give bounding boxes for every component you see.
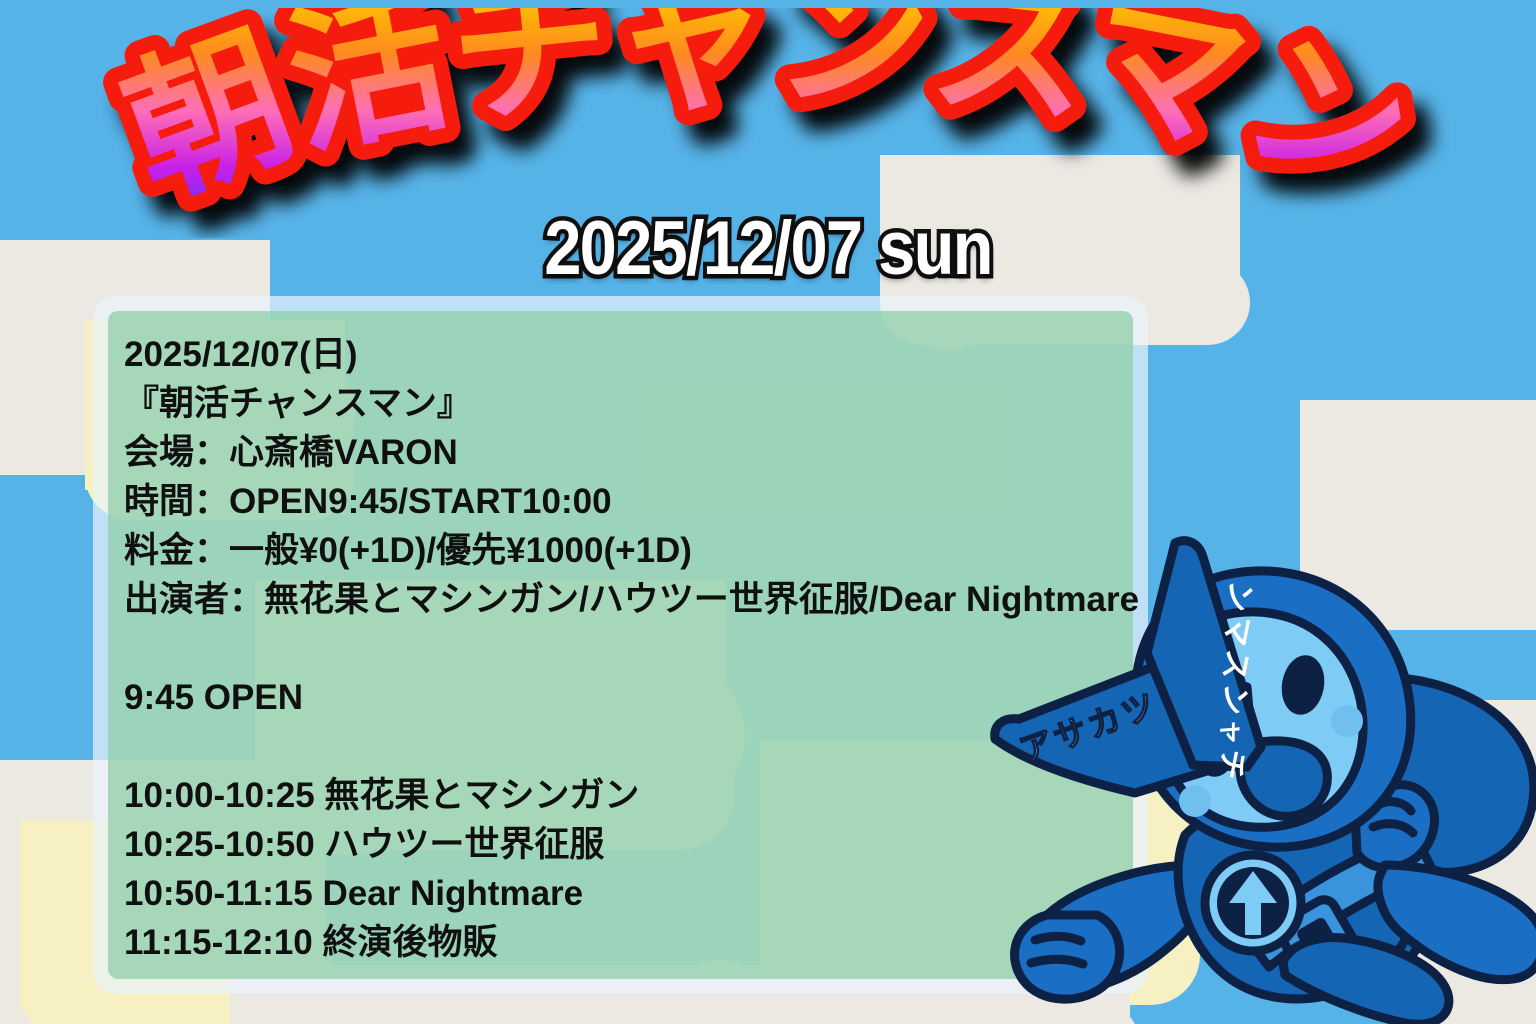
title-glyphs: 朝活チャンスマン 朝活チャンスマン [103,8,1433,230]
poster-canvas: 朝活チャンスマン 朝活チャンスマン 2025/12/07 sun 2025/12… [0,0,1536,1024]
mascot-character: アサカツ ン マ ス ン ャ チ [985,535,1536,1024]
poster-title: 朝活チャンスマン 朝活チャンスマン [0,8,1536,238]
title-text-fill: 朝活チャンスマン [103,8,1433,230]
mascot-cheek-dot-2 [1179,785,1211,817]
poster-subtitle: 2025/12/07 sun [92,205,1444,292]
info-line-time: 時間：OPEN9:45/START10:00 [124,477,1524,526]
info-line-event-name: 『朝活チャンスマン』 [124,379,1524,428]
title-artwork: 朝活チャンスマン 朝活チャンスマン [58,8,1478,238]
info-line-venue: 会場：心斎橋VARON [124,428,1524,477]
svg-text:朝活チャンスマン: 朝活チャンスマン [103,8,1433,230]
mascot-cheek-dot-1 [1331,705,1363,737]
info-line-date: 2025/12/07(日) [124,330,1524,379]
